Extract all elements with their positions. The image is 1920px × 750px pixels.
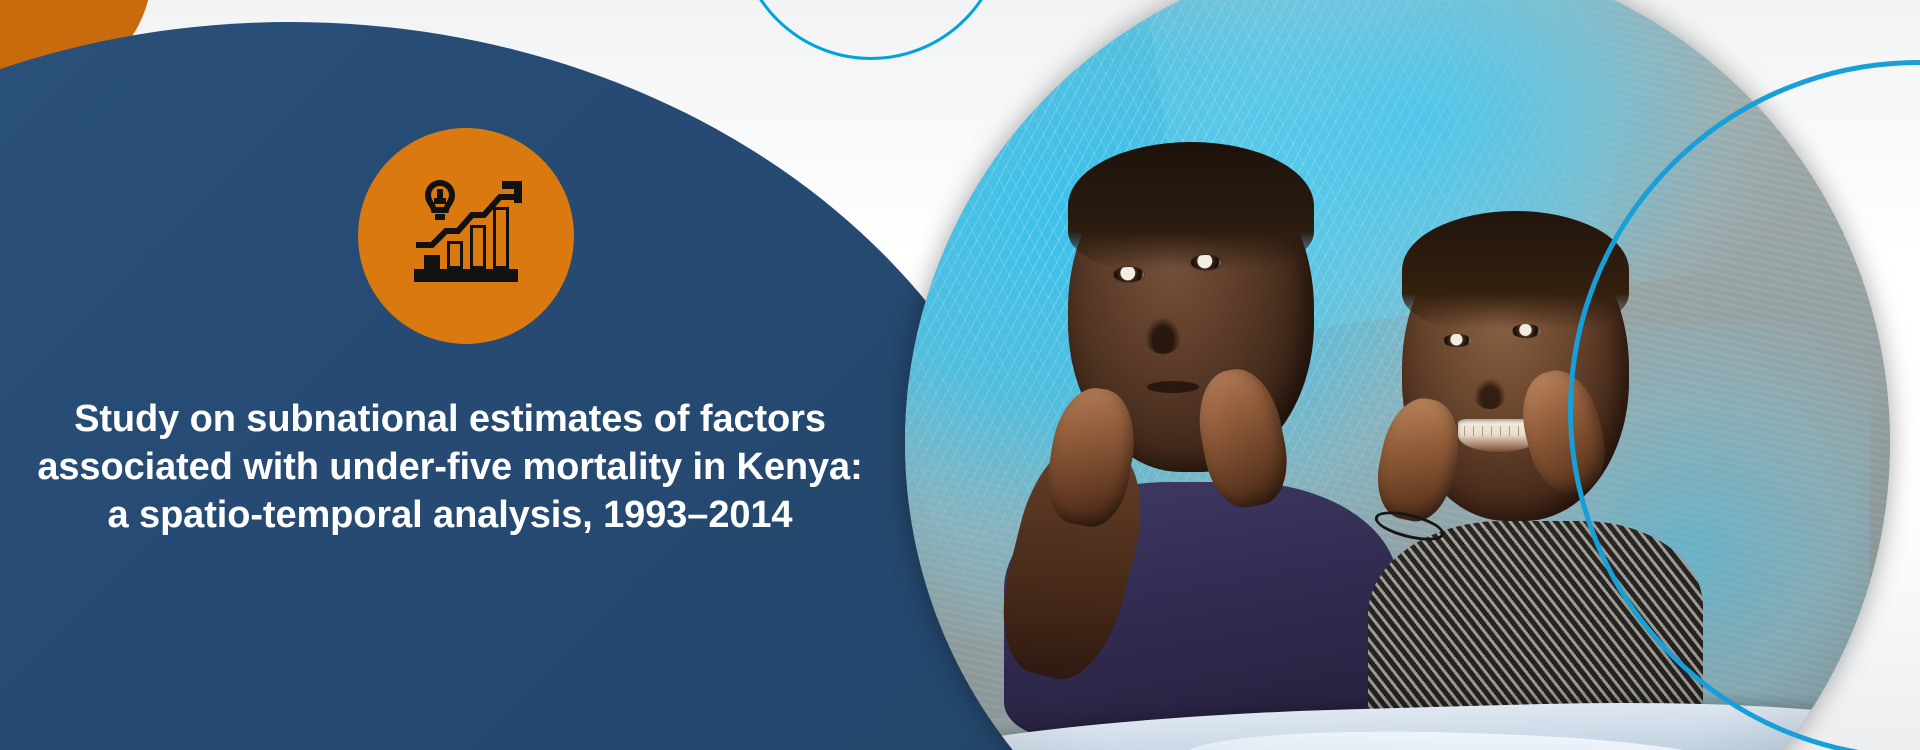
growth-chart-idea-icon [358, 128, 574, 344]
study-title-banner: Study on subnational estimates of factor… [0, 0, 1920, 750]
title-line-1: Study on subnational estimates of factor… [0, 395, 900, 443]
page-title: Study on subnational estimates of factor… [0, 395, 900, 539]
title-line-2: associated with under-five mortality in … [0, 443, 900, 491]
title-line-3: a spatio-temporal analysis, 1993–2014 [0, 491, 900, 539]
